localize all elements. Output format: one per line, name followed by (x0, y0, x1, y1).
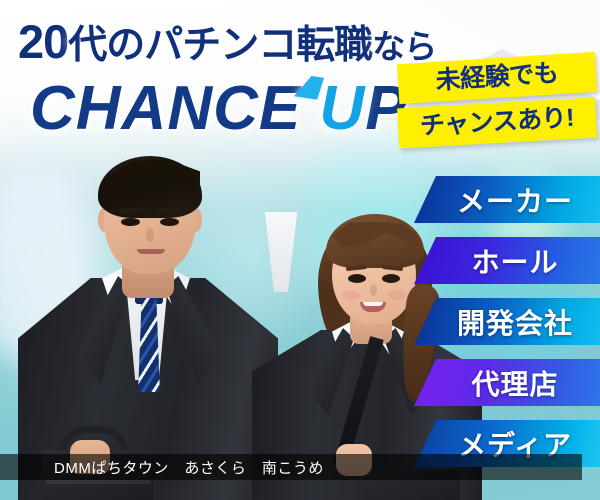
woman-cheek-right (388, 290, 406, 300)
woman-eye-right (382, 274, 400, 283)
badge-no-experience: 未経験でも チャンスあり! (398, 58, 596, 143)
woman-nose (370, 284, 377, 296)
category-label: 代理店 (414, 363, 600, 403)
man-eye-right (160, 218, 179, 226)
woman-eye-left (348, 274, 366, 283)
headline-middle: 代のパチンコ転職 (68, 24, 372, 67)
category-button-hall[interactable]: ホール (414, 237, 600, 284)
man-mouth (137, 249, 165, 254)
category-label: メーカー (414, 180, 600, 220)
man-eye-left (121, 218, 140, 226)
category-label: ホール (414, 241, 600, 281)
category-label: 開発会社 (414, 302, 600, 342)
headline: 20代のパチンコ転職なら (18, 18, 436, 66)
category-list: メーカー ホール 開発会社 代理店 メディア (414, 176, 600, 467)
headline-number: 20 (18, 15, 68, 68)
photo-businessman (18, 150, 278, 500)
logo-u: U (319, 78, 365, 140)
man-nose (146, 228, 154, 242)
man-briefcase-seam (46, 480, 150, 484)
badge-line-2: チャンスあり! (397, 98, 597, 149)
caption-bar: DMMぱちタウン あさくら 南こうめ (0, 454, 582, 480)
woman-teeth (363, 302, 383, 306)
category-button-maker[interactable]: メーカー (414, 176, 600, 223)
banner-ad[interactable]: 20代のパチンコ転職なら CHANCE UP 未経験でも チャンスあり! メーカ… (0, 0, 600, 500)
caption-text: DMMぱちタウン あさくら 南こうめ (0, 457, 324, 478)
badge-line-1: 未経験でも (397, 52, 597, 104)
logo-chance-up: CHANCE UP (30, 78, 408, 140)
woman-shirt (252, 212, 310, 292)
category-button-development-company[interactable]: 開発会社 (414, 298, 600, 345)
woman-cheek-left (342, 290, 360, 300)
category-button-agency[interactable]: 代理店 (414, 359, 600, 406)
logo-chance: CHANCE (30, 74, 301, 143)
